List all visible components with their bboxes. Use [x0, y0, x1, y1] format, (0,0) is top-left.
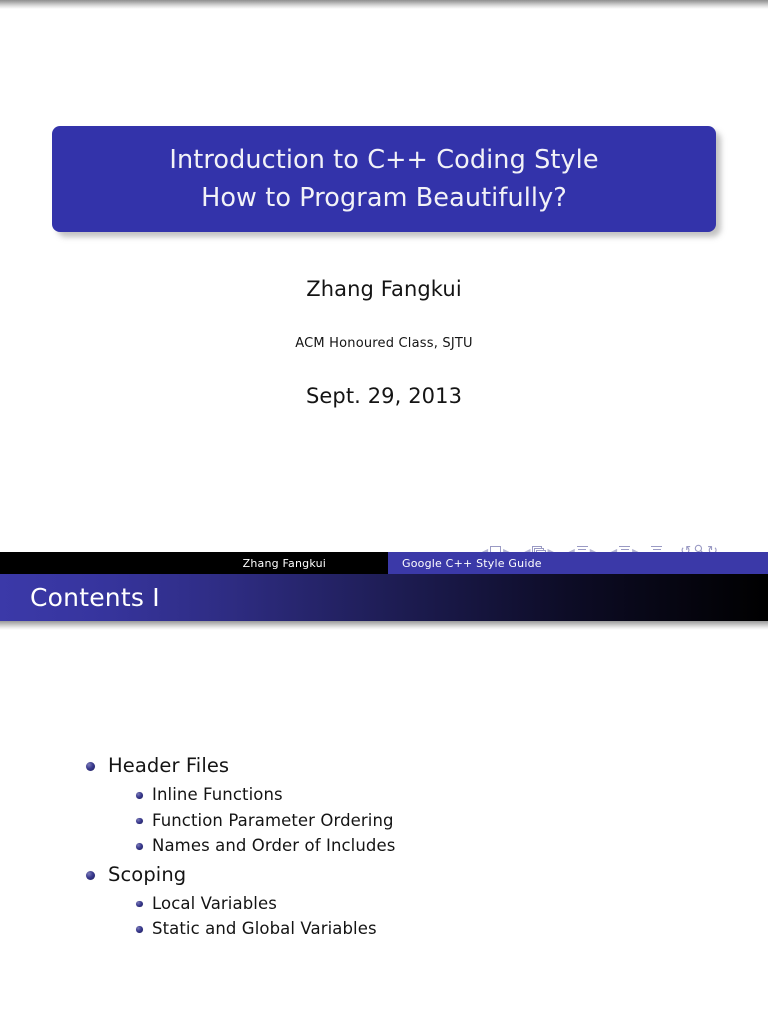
section-bullet-icon	[86, 871, 95, 880]
title-box: Introduction to C++ Coding Style How to …	[52, 126, 716, 232]
toc-subsection[interactable]: Function Parameter Ordering	[108, 808, 768, 834]
toc-subsection-label[interactable]: Function Parameter Ordering	[152, 811, 394, 830]
toc-subsection-label[interactable]: Names and Order of Includes	[152, 836, 395, 855]
page-top-shadow	[0, 0, 768, 9]
toc-section-label[interactable]: Header Files	[108, 750, 229, 782]
toc-subsection-label[interactable]: Local Variables	[152, 894, 277, 913]
footline-author-cell: Zhang Fangkui	[0, 552, 388, 574]
table-of-contents: Header Files Inline Functions Function P…	[0, 750, 768, 942]
author-name: Zhang Fangkui	[0, 277, 768, 301]
toc-subsection-list: Local Variables Static and Global Variab…	[108, 891, 768, 942]
toc-subsection-list: Inline Functions Function Parameter Orde…	[108, 782, 768, 859]
footline-title-cell: Google C++ Style Guide	[388, 552, 768, 574]
toc-subsection[interactable]: Static and Global Variables	[108, 916, 768, 942]
footline-title: Google C++ Style Guide	[402, 557, 542, 570]
author-institute: ACM Honoured Class, SJTU	[0, 336, 768, 351]
frame-title-bottom-shadow	[0, 621, 768, 630]
toc-subsection[interactable]: Local Variables	[108, 891, 768, 917]
frame-title-bar: Contents I	[0, 574, 768, 621]
subsection-bullet-icon	[136, 818, 143, 825]
title-slide: Introduction to C++ Coding Style How to …	[0, 9, 768, 552]
subsection-bullet-icon	[136, 843, 143, 850]
footline: Zhang Fangkui Google C++ Style Guide	[0, 552, 768, 574]
title-box-fill: Introduction to C++ Coding Style How to …	[52, 126, 716, 232]
toc-section[interactable]: Scoping Local Variables Static and Globa…	[0, 859, 768, 942]
subsection-bullet-icon	[136, 901, 143, 908]
toc-subsection[interactable]: Names and Order of Includes	[108, 833, 768, 859]
section-bullet-icon	[86, 762, 95, 771]
toc-subsection-label[interactable]: Static and Global Variables	[152, 919, 377, 938]
presentation-title-line-2: How to Program Beautifully?	[201, 179, 567, 217]
footline-author: Zhang Fangkui	[243, 557, 326, 570]
toc-subsection[interactable]: Inline Functions	[108, 782, 768, 808]
toc-section-list: Header Files Inline Functions Function P…	[0, 750, 768, 942]
toc-subsection-label[interactable]: Inline Functions	[152, 785, 283, 804]
presentation-date: Sept. 29, 2013	[0, 384, 768, 408]
subsection-bullet-icon	[136, 926, 143, 933]
toc-section-label[interactable]: Scoping	[108, 859, 186, 891]
toc-section[interactable]: Header Files Inline Functions Function P…	[0, 750, 768, 859]
presentation-title-line-1: Introduction to C++ Coding Style	[169, 141, 598, 179]
subsection-bullet-icon	[136, 792, 143, 799]
frame-title: Contents I	[0, 583, 160, 612]
